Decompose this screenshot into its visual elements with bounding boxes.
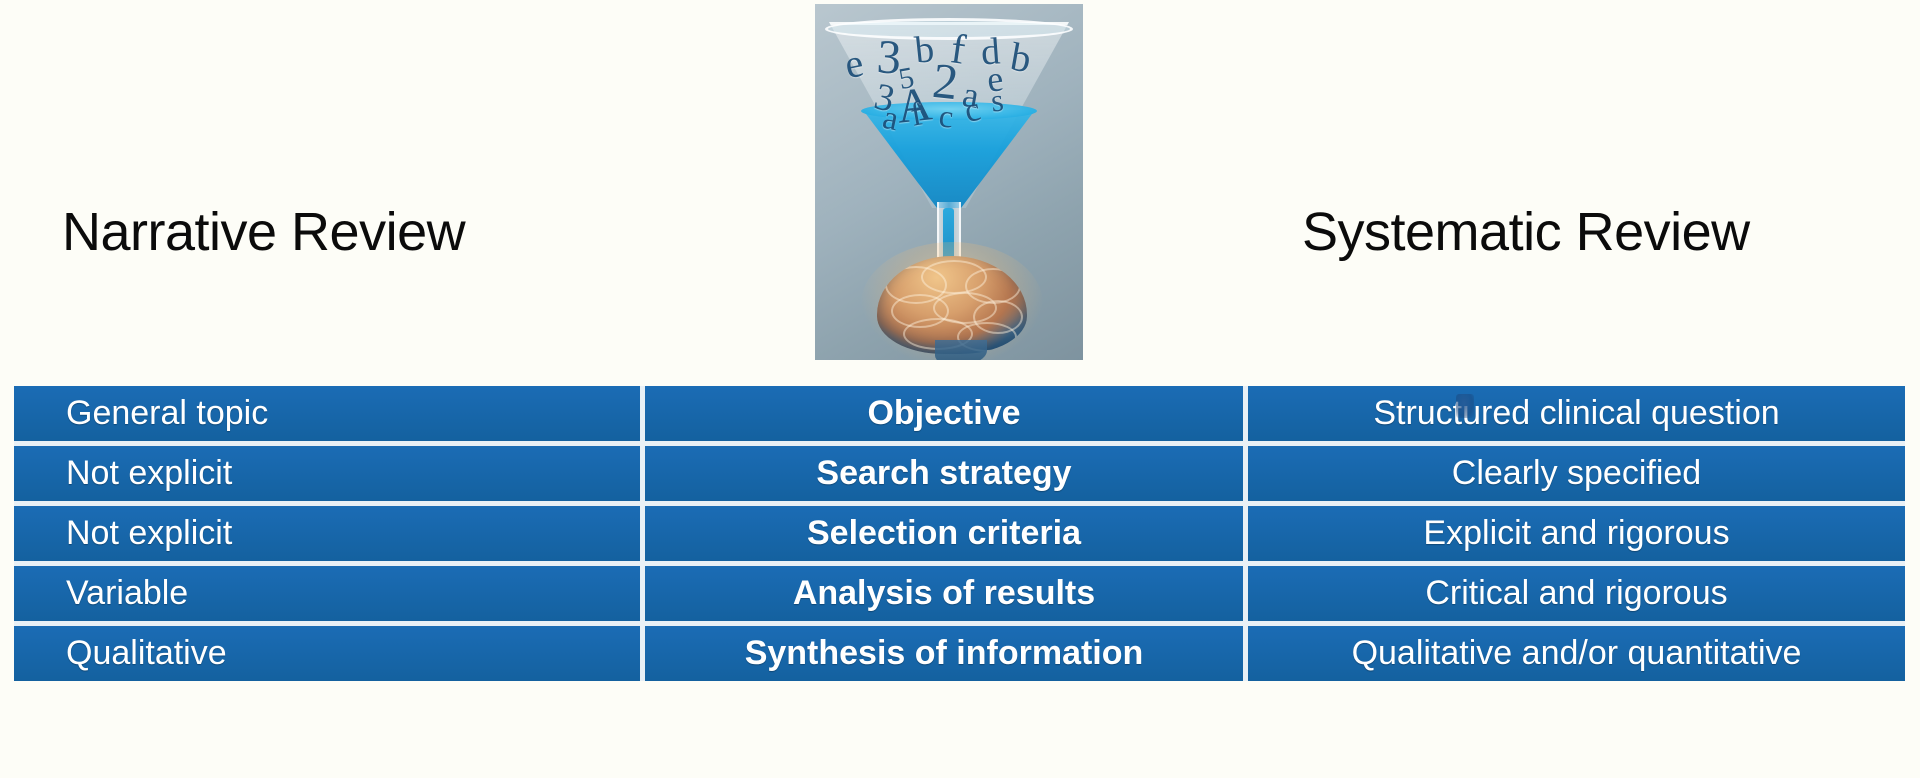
cell-narrative-review: Qualitative bbox=[14, 626, 640, 681]
cell-systematic-review: Explicit and rigorous bbox=[1248, 506, 1905, 561]
funnel-brain-illustration: e3bfdb52e3Aasafcc bbox=[815, 4, 1083, 360]
table-row: VariableAnalysis of resultsCritical and … bbox=[14, 566, 1905, 621]
cell-criterion: Synthesis of information bbox=[645, 626, 1243, 681]
page-title-systematic-review: Systematic Review bbox=[1302, 205, 1750, 259]
cell-systematic-review: Critical and rigorous bbox=[1248, 566, 1905, 621]
cell-narrative-review: Not explicit bbox=[14, 446, 640, 501]
table-row: General topicObjectiveStructured clinica… bbox=[14, 386, 1905, 441]
slide-canvas: Narrative Review Systematic Review e3bfd… bbox=[0, 0, 1920, 778]
cell-criterion: Analysis of results bbox=[645, 566, 1243, 621]
funnel-rim-shape bbox=[825, 18, 1073, 40]
cell-systematic-review: Clearly specified bbox=[1248, 446, 1905, 501]
table-row: Not explicitSearch strategyClearly speci… bbox=[14, 446, 1905, 501]
cell-systematic-review: Qualitative and/or quantitative bbox=[1248, 626, 1905, 681]
cell-criterion: Selection criteria bbox=[645, 506, 1243, 561]
table-row: Not explicitSelection criteriaExplicit a… bbox=[14, 506, 1905, 561]
cell-systematic-review: Structured clinical question bbox=[1248, 386, 1905, 441]
comparison-table: General topicObjectiveStructured clinica… bbox=[14, 386, 1905, 681]
cell-criterion: Objective bbox=[645, 386, 1243, 441]
cell-narrative-review: Variable bbox=[14, 566, 640, 621]
cell-narrative-review: General topic bbox=[14, 386, 640, 441]
page-title-narrative-review: Narrative Review bbox=[62, 205, 465, 259]
brain-stem-shape bbox=[935, 340, 987, 360]
cell-narrative-review: Not explicit bbox=[14, 506, 640, 561]
table-row: QualitativeSynthesis of informationQuali… bbox=[14, 626, 1905, 681]
cell-criterion: Search strategy bbox=[645, 446, 1243, 501]
